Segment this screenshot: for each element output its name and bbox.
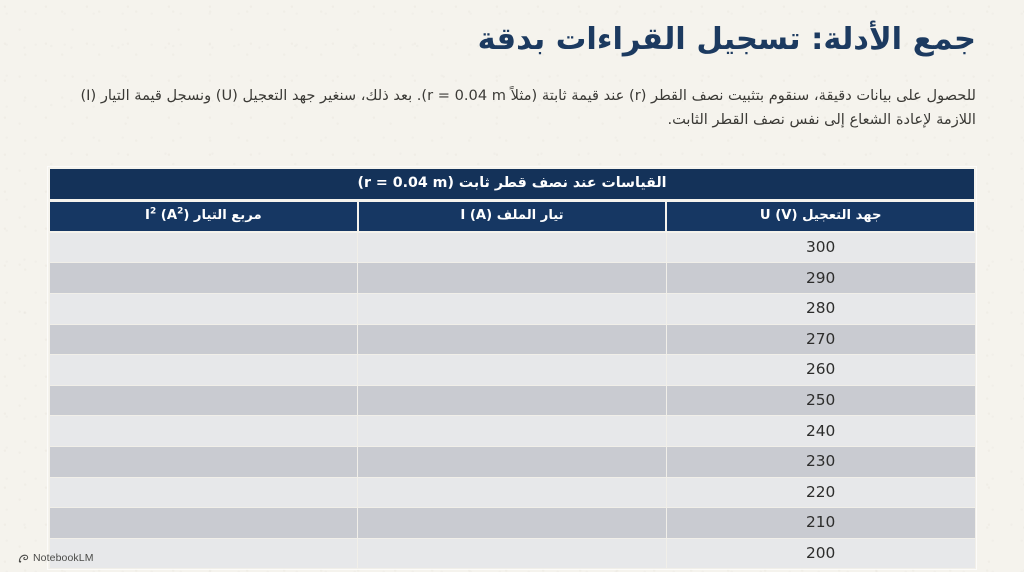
table-cell-i2[interactable] — [49, 263, 358, 294]
table-cell-u[interactable]: 260 — [666, 355, 975, 386]
table-cell-i[interactable] — [358, 232, 667, 263]
table-cell-i[interactable] — [358, 355, 667, 386]
table-row: 290 — [49, 263, 975, 294]
table-row: 270 — [49, 324, 975, 355]
table-cell-i2[interactable] — [49, 385, 358, 416]
table-cell-u[interactable]: 210 — [666, 508, 975, 539]
table-cell-i2[interactable] — [49, 447, 358, 478]
table-caption: القياسات عند نصف قطر ثابت (r = 0.04 m) — [49, 168, 975, 201]
table-cell-u[interactable]: 240 — [666, 416, 975, 447]
table-row: 240 — [49, 416, 975, 447]
table-row: 210 — [49, 508, 975, 539]
column-header-current-squared: مربع التيار (A2) I2 — [49, 201, 358, 232]
table-cell-i[interactable] — [358, 263, 667, 294]
table-row: 200 — [49, 538, 975, 569]
table-column-header-row: جهد التعجيل (V) U تيار الملف (A) I مربع … — [49, 201, 975, 232]
table-caption-row: القياسات عند نصف قطر ثابت (r = 0.04 m) — [49, 168, 975, 201]
table-cell-u[interactable]: 290 — [666, 263, 975, 294]
measurements-table: القياسات عند نصف قطر ثابت (r = 0.04 m) ج… — [48, 167, 976, 569]
table-cell-i[interactable] — [358, 477, 667, 508]
table-cell-u[interactable]: 200 — [666, 538, 975, 569]
table-row: 280 — [49, 294, 975, 325]
slide-canvas: جمع الأدلة: تسجيل القراءات بدقة للحصول ع… — [0, 0, 1024, 572]
table-cell-u[interactable]: 300 — [666, 232, 975, 263]
table-header: القياسات عند نصف قطر ثابت (r = 0.04 m) ج… — [49, 168, 975, 232]
notebooklm-logo-icon — [18, 553, 29, 564]
table-row: 260 — [49, 355, 975, 386]
table-cell-i[interactable] — [358, 447, 667, 478]
table-cell-i2[interactable] — [49, 294, 358, 325]
notebooklm-watermark: NotebookLM — [18, 552, 94, 564]
table-cell-i2[interactable] — [49, 538, 358, 569]
table-cell-i[interactable] — [358, 508, 667, 539]
table-cell-u[interactable]: 280 — [666, 294, 975, 325]
column-header-coil-current: تيار الملف (A) I — [358, 201, 667, 232]
table-cell-u[interactable]: 220 — [666, 477, 975, 508]
table-cell-i2[interactable] — [49, 232, 358, 263]
table-cell-u[interactable]: 250 — [666, 385, 975, 416]
table-body: 300290280270260250240230220210200 — [49, 232, 975, 569]
page-title: جمع الأدلة: تسجيل القراءات بدقة — [48, 21, 976, 59]
table-cell-i[interactable] — [358, 416, 667, 447]
notebooklm-label: NotebookLM — [33, 552, 94, 564]
page-subtitle: للحصول على بيانات دقيقة، سنقوم بتثبيت نص… — [48, 84, 976, 131]
table-cell-u[interactable]: 230 — [666, 447, 975, 478]
table-cell-i[interactable] — [358, 324, 667, 355]
table-cell-i[interactable] — [358, 294, 667, 325]
table-cell-i2[interactable] — [49, 355, 358, 386]
table-row: 250 — [49, 385, 975, 416]
table-row: 220 — [49, 477, 975, 508]
table-cell-u[interactable]: 270 — [666, 324, 975, 355]
table-cell-i2[interactable] — [49, 324, 358, 355]
table-row: 300 — [49, 232, 975, 263]
table-row: 230 — [49, 447, 975, 478]
table-cell-i[interactable] — [358, 538, 667, 569]
table-cell-i2[interactable] — [49, 477, 358, 508]
table-cell-i[interactable] — [358, 385, 667, 416]
table-cell-i2[interactable] — [49, 416, 358, 447]
column-header-accelerating-voltage: جهد التعجيل (V) U — [666, 201, 975, 232]
table-cell-i2[interactable] — [49, 508, 358, 539]
